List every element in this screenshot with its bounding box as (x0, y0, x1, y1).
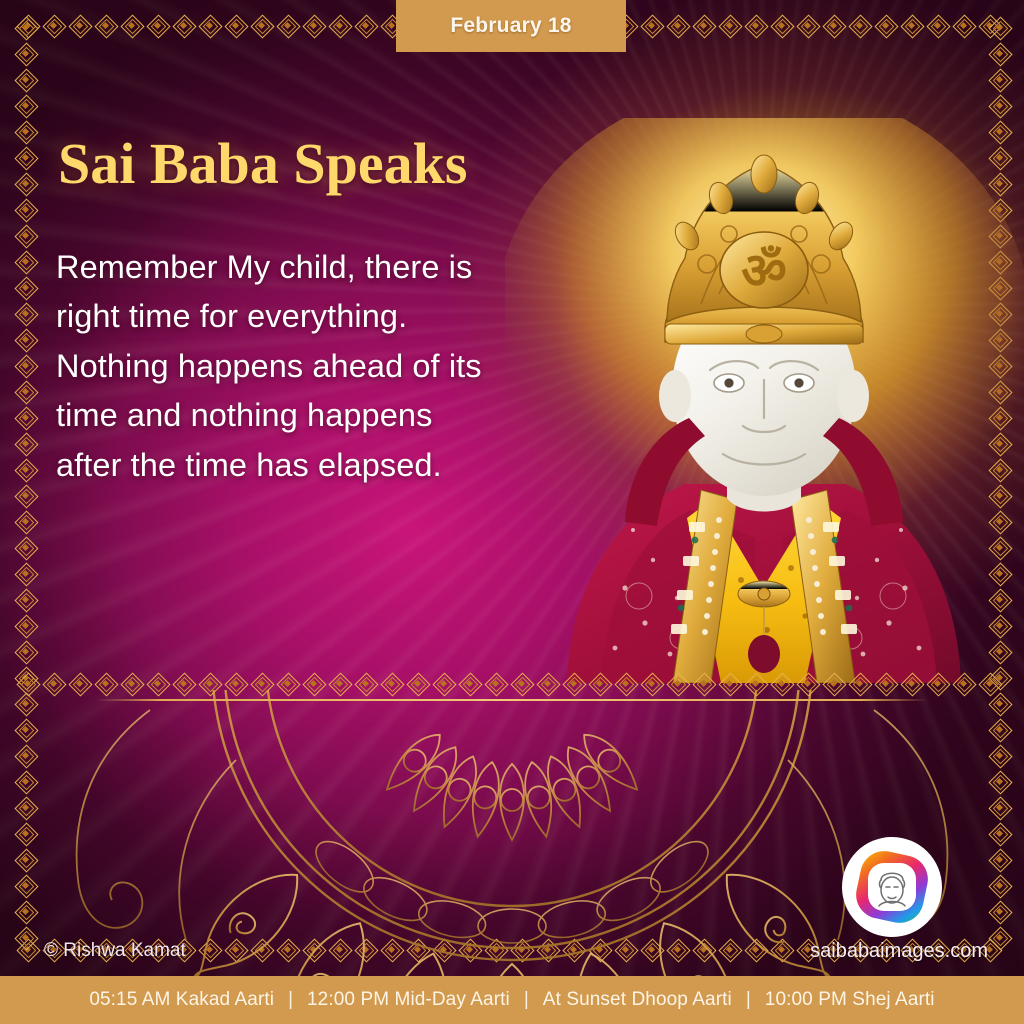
section-divider (0, 672, 1024, 712)
border-diamond-motif (40, 672, 66, 694)
border-diamond-motif (326, 14, 352, 36)
border-diamond-motif (378, 672, 404, 694)
border-diamond-motif (690, 14, 716, 36)
border-diamond-motif (14, 222, 36, 248)
sai-baba-murti: ॐ (505, 118, 1024, 683)
border-diamond-motif (248, 14, 274, 36)
border-diamond-motif (326, 672, 352, 694)
border-diamond-motif (14, 378, 36, 404)
border-diamond-motif (14, 508, 36, 534)
border-diamond-motif (534, 672, 560, 694)
border-diamond-motif (768, 672, 794, 694)
border-diamond-motif (274, 14, 300, 36)
aarti-separator: | (732, 989, 765, 1011)
border-diamond-motif (14, 14, 36, 40)
border-diamond-motif (14, 196, 36, 222)
border-diamond-motif (118, 14, 144, 36)
website-url[interactable]: saibabaimages.com (810, 940, 988, 963)
border-diamond-motif (404, 672, 430, 694)
border-diamond-motif (66, 14, 92, 36)
aarti-item: At Sunset Dhoop Aarti (543, 989, 732, 1011)
border-diamond-motif (14, 586, 36, 612)
border-diamond-motif (14, 300, 36, 326)
border-diamond-motif (300, 14, 326, 36)
border-diamond-motif (456, 672, 482, 694)
date-label: February 18 (450, 14, 571, 38)
border-diamond-motif (14, 482, 36, 508)
border-diamond-motif (988, 40, 1010, 66)
border-diamond-motif (898, 672, 924, 694)
aarti-timings-bar: 05:15 AM Kakad Aarti | 12:00 PM Mid-Day … (0, 976, 1024, 1024)
border-diamond-motif (196, 672, 222, 694)
border-diamond-motif (14, 638, 36, 664)
aarti-separator: | (274, 989, 307, 1011)
border-diamond-motif (716, 672, 742, 694)
aarti-separator: | (510, 989, 543, 1011)
border-diamond-motif (14, 144, 36, 170)
border-diamond-motif (14, 14, 40, 36)
border-diamond-motif (976, 672, 1002, 694)
quote-line: right time for everything. (56, 292, 556, 341)
border-diamond-motif (664, 672, 690, 694)
page-title: Sai Baba Speaks (58, 134, 467, 195)
border-diamond-motif (820, 672, 846, 694)
quote-line: after the time has elapsed. (56, 441, 556, 490)
border-diamond-motif (898, 14, 924, 36)
date-banner: February 18 (396, 0, 626, 52)
border-diamond-motif (66, 672, 92, 694)
border-diamond-motif (14, 612, 36, 638)
border-diamond-motif (274, 672, 300, 694)
border-diamond-motif (14, 326, 36, 352)
border-diamond-motif (612, 672, 638, 694)
border-diamond-motif (950, 672, 976, 694)
border-diamond-motif (988, 14, 1010, 40)
border-diamond-motif (40, 14, 66, 36)
border-diamond-motif (14, 66, 36, 92)
border-diamond-motif (118, 672, 144, 694)
svg-text:ॐ: ॐ (741, 242, 787, 300)
border-diamond-motif (846, 14, 872, 36)
border-diamond-motif (300, 672, 326, 694)
quote-line: Remember My child, there is (56, 243, 556, 292)
border-diamond-motif (352, 672, 378, 694)
border-diamond-motif (14, 456, 36, 482)
border-diamond-motif (222, 14, 248, 36)
border-diamond-motif (14, 560, 36, 586)
border-diamond-motif (482, 672, 508, 694)
border-diamond-motif (638, 672, 664, 694)
quote-text: Remember My child, there is right time f… (56, 243, 556, 490)
border-diamond-motif (14, 118, 36, 144)
border-diamond-motif (144, 14, 170, 36)
border-diamond-motif (988, 92, 1010, 118)
copyright-credit: © Rishwa Kamat (44, 940, 186, 962)
border-diamond-motif (222, 672, 248, 694)
border-diamond-motif (742, 672, 768, 694)
border-diamond-motif (92, 672, 118, 694)
border-diamond-motif (846, 672, 872, 694)
border-diamond-motif (352, 14, 378, 36)
border-diamond-motif (14, 672, 40, 694)
border-diamond-motif (14, 430, 36, 456)
sai-baba-logo[interactable] (841, 836, 943, 938)
aarti-item: 10:00 PM Shej Aarti (765, 989, 935, 1011)
divider-line (96, 699, 928, 701)
border-diamond-motif (92, 14, 118, 36)
border-diamond-motif (248, 672, 274, 694)
border-diamond-motif (872, 672, 898, 694)
border-diamond-motif (14, 170, 36, 196)
border-diamond-motif (14, 534, 36, 560)
border-diamond-motif (508, 672, 534, 694)
border-diamond-motif (976, 14, 1002, 36)
border-diamond-motif (586, 672, 612, 694)
border-diamond-motif (924, 672, 950, 694)
border-diamond-motif (144, 672, 170, 694)
border-diamond-motif (14, 352, 36, 378)
border-diamond-motif (664, 14, 690, 36)
border-diamond-motif (716, 14, 742, 36)
border-diamond-motif (170, 14, 196, 36)
border-diamond-motif (14, 92, 36, 118)
aarti-item: 05:15 AM Kakad Aarti (89, 989, 274, 1011)
border-diamond-motif (768, 14, 794, 36)
border-diamond-motif (820, 14, 846, 36)
border-diamond-motif (14, 248, 36, 274)
border-diamond-motif (950, 14, 976, 36)
border-diamond-motif (14, 40, 36, 66)
border-diamond-motif (170, 672, 196, 694)
aarti-item: 12:00 PM Mid-Day Aarti (307, 989, 510, 1011)
border-diamond-motif (14, 274, 36, 300)
quote-line: time and nothing happens (56, 391, 556, 440)
border-diamond-motif (872, 14, 898, 36)
border-diamond-motif (196, 14, 222, 36)
border-diamond-motif (14, 404, 36, 430)
border-diamond-motif (988, 66, 1010, 92)
border-diamond-motif (924, 14, 950, 36)
quote-line: Nothing happens ahead of its (56, 342, 556, 391)
border-diamond-motif (742, 14, 768, 36)
devotional-card: ॐ February 18 Sai Baba Speaks Remember M… (0, 0, 1024, 1024)
border-diamond-motif (690, 672, 716, 694)
border-diamond-motif (794, 14, 820, 36)
border-diamond-motif (560, 672, 586, 694)
border-diamond-motif (638, 14, 664, 36)
border-diamond-motif (794, 672, 820, 694)
border-diamond-motif (430, 672, 456, 694)
